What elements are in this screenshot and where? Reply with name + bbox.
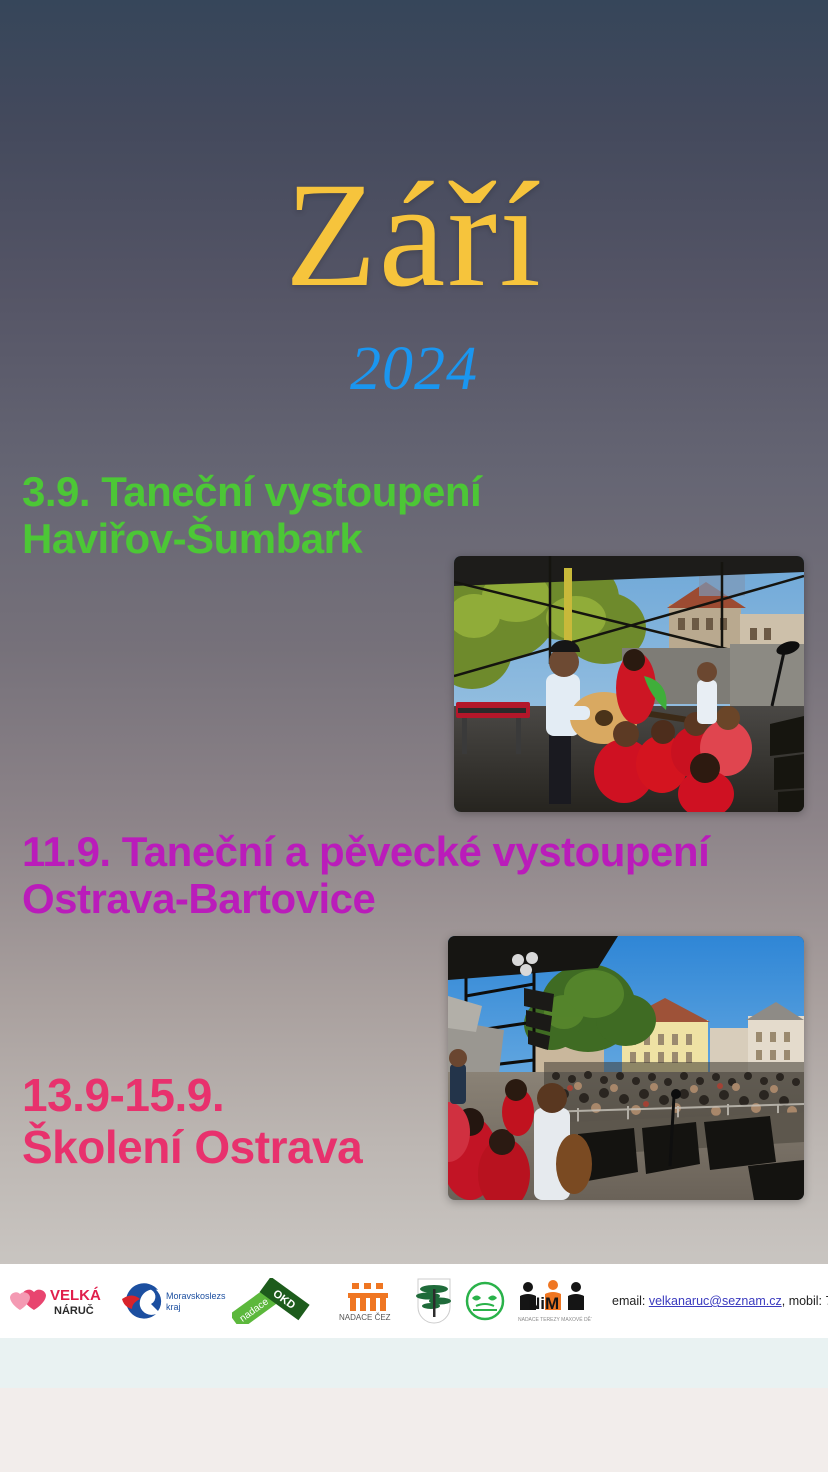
green-circle-birds-icon [462, 1278, 508, 1324]
bottom-band-warm [0, 1388, 828, 1472]
sponsor-footer: VELKÁ NÁRUČ Moravskoslezský kraj nadace [0, 1264, 828, 1338]
sponsor-logo-nadace-cez: NADACE ČEZ [330, 1279, 406, 1323]
sponsor-logo-tree-shield [412, 1277, 456, 1325]
sponsor-logo-nim: NiM NADACE TEREZY MAXOVÉ DĚTEM [514, 1278, 592, 1324]
email-link[interactable]: velkanaruc@seznam.cz [649, 1294, 782, 1308]
svg-text:NiM: NiM [528, 1294, 559, 1313]
cez-comb-icon: NADACE ČEZ [330, 1279, 406, 1323]
poster-canvas: Září 2024 3.9. Taneční vystoupení Haviřo… [0, 0, 828, 1472]
contact-separator: , [782, 1294, 785, 1308]
event-item-1: 3.9. Taneční vystoupení Haviřov-Šumbark [22, 468, 522, 562]
svg-text:NADACE TEREZY MAXOVÉ DĚTEM: NADACE TEREZY MAXOVÉ DĚTEM [518, 1315, 592, 1323]
email-label: email: [612, 1294, 645, 1308]
eagle-emblem-icon: Moravskoslezský kraj [116, 1279, 226, 1323]
chevron-logo-icon: nadace OKD [232, 1278, 324, 1324]
nim-figures-icon: NiM NADACE TEREZY MAXOVÉ DĚTEM [514, 1278, 592, 1324]
poster-year: 2024 [0, 338, 828, 400]
bottom-band-cyan [0, 1338, 828, 1388]
svg-text:kraj: kraj [166, 1302, 181, 1312]
svg-text:Moravskoslezský: Moravskoslezský [166, 1291, 226, 1301]
title-block: Září 2024 [0, 160, 828, 400]
event-item-2: 11.9. Taneční a pěvecké vystoupení Ostra… [22, 828, 742, 922]
sponsor-logo-moravskoslezsky-kraj: Moravskoslezský kraj [116, 1279, 226, 1323]
svg-text:NADACE ČEZ: NADACE ČEZ [339, 1313, 391, 1322]
svg-text:NÁRUČ: NÁRUČ [54, 1304, 94, 1317]
event-text: 11.9. Taneční a pěvecké vystoupení Ostra… [22, 828, 742, 922]
sponsor-logo-green-circle [462, 1278, 508, 1324]
heart-icon: VELKÁ NÁRUČ [6, 1281, 110, 1321]
event-text: 3.9. Taneční vystoupení Haviřov-Šumbark [22, 468, 522, 562]
tree-shield-icon [412, 1277, 456, 1325]
sponsor-logo-velka-naruc: VELKÁ NÁRUČ [6, 1281, 110, 1321]
sponsor-logo-nadace-okd: nadace OKD [232, 1278, 324, 1324]
event-item-3: 13.9-15.9. Školení Ostrava [22, 1070, 452, 1173]
event-text: 13.9-15.9. Školení Ostrava [22, 1070, 452, 1173]
svg-text:VELKÁ: VELKÁ [50, 1287, 101, 1304]
mobile-label: mobil: [789, 1294, 822, 1308]
event-photo-havirov [454, 556, 804, 812]
contact-line: email: velkanaruc@seznam.cz, mobil: 731 … [612, 1294, 828, 1308]
event-photo-bartovice [448, 936, 804, 1200]
page-title: Září [0, 160, 828, 310]
